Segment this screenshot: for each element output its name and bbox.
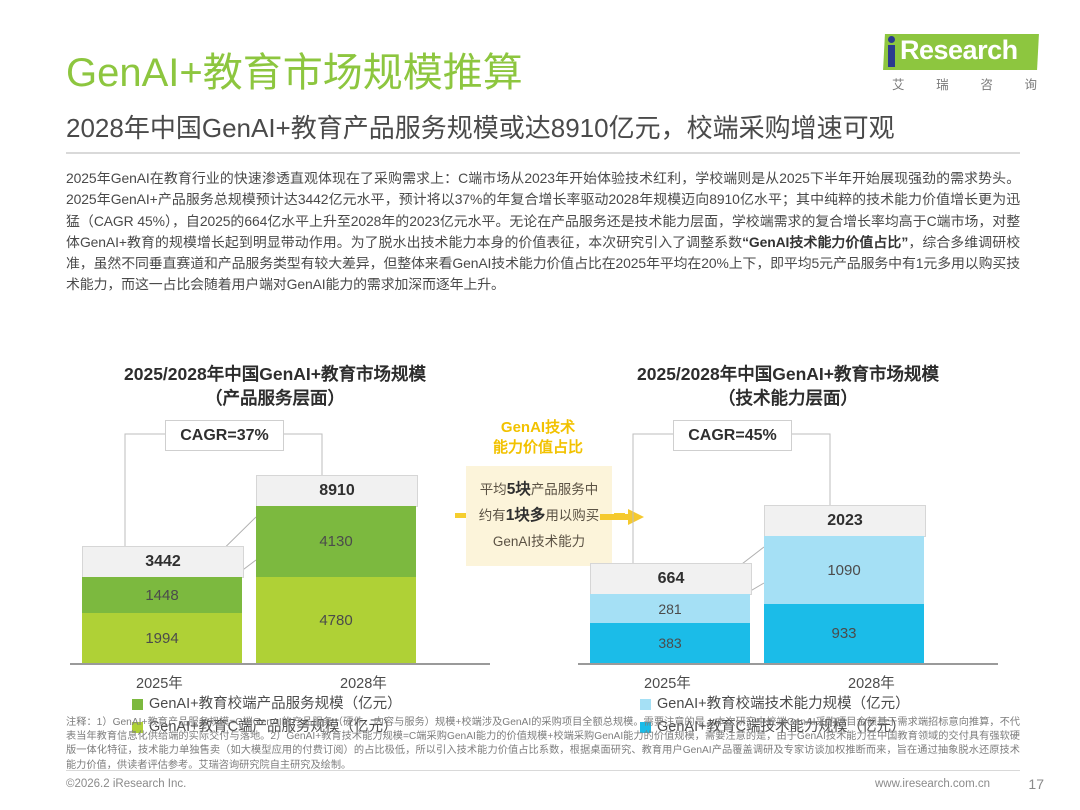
footer-copyright: ©2026.2 iResearch Inc.: [66, 778, 186, 790]
logo-chinese-name: 艾 瑞 咨 询: [892, 74, 1038, 93]
logo-cn-char-4: 询: [1024, 74, 1038, 93]
logo-badge: Research: [862, 32, 1038, 72]
callout-tick-left: [455, 513, 466, 518]
left-bar-2025-school: 1448: [82, 577, 242, 613]
right-chart-title-line2: （技术能力层面）: [578, 386, 998, 410]
page-subtitle: 2028年中国GenAI+教育产品服务规模或达8910亿元，校端采购增速可观: [66, 108, 895, 145]
left-bar-2025-consumer: 1994: [82, 613, 242, 663]
right-total-2025: 664: [590, 563, 752, 595]
left-cagr-annotation: CAGR=37%: [165, 420, 284, 451]
logo-i-dot-icon: [888, 36, 895, 43]
left-total-2028: 8910: [256, 475, 418, 507]
right-bar-2025-school: 281: [590, 594, 750, 623]
page-title: GenAI+教育市场规模推算: [66, 40, 523, 98]
iresearch-logo: Research 艾 瑞 咨 询: [862, 32, 1038, 94]
right-chart-axis: [578, 663, 998, 665]
callout-line2-pre: 约有: [479, 508, 506, 523]
body-paragraph: 2025年GenAI在教育行业的快速渗透直观体现在了采购需求上：C端市场从202…: [66, 168, 1020, 296]
right-legend-item-school: GenAI+教育校端技术能力规模（亿元）: [640, 694, 910, 715]
right-chart-title-line1: 2025/2028年中国GenAI+教育市场规模: [578, 362, 998, 386]
left-xlabel-2025: 2025年: [136, 672, 183, 693]
footnote: 注释：1）GenAI+教育产品服务规模=C端GenAI的产品服务（硬件、内容与服…: [66, 716, 1020, 773]
callout-line1-pre: 平均: [480, 482, 507, 497]
right-total-2028: 2023: [764, 505, 926, 537]
right-chart-title: 2025/2028年中国GenAI+教育市场规模 （技术能力层面）: [578, 362, 998, 410]
right-xlabel-2025: 2025年: [644, 672, 691, 693]
logo-cn-char-3: 咨: [980, 74, 994, 93]
right-legend-label-school: GenAI+教育校端技术能力规模（亿元）: [657, 694, 910, 715]
left-bar-2025: 1448 1994: [82, 577, 242, 663]
right-legend-swatch-school: [640, 699, 651, 710]
right-chart: CAGR=45% 664 2023 281 383 1090 933: [578, 420, 998, 665]
left-bar-2028-school: 4130: [256, 506, 416, 577]
left-chart-axis: [70, 663, 490, 665]
footer-website: www.iresearch.com.cn: [875, 778, 990, 790]
callout-line3: GenAI技术能力: [493, 529, 585, 555]
left-bar-2028-consumer: 4780: [256, 577, 416, 663]
body-paragraph-bold: “GenAI技术能力价值占比”: [742, 234, 908, 250]
callout-line1-bold: 5块: [507, 481, 531, 498]
right-bar-2028: 1090 933: [764, 536, 924, 663]
logo-i-stem-icon: [888, 45, 895, 67]
right-xlabel-2028: 2028年: [848, 672, 895, 693]
left-bar-2028: 4130 4780: [256, 506, 416, 663]
left-xlabel-2028: 2028年: [340, 672, 387, 693]
left-chart-title-line2: （产品服务层面）: [70, 386, 480, 410]
footer-divider: [66, 770, 1020, 771]
logo-cn-char-1: 艾: [892, 74, 906, 93]
left-legend-swatch-school: [132, 699, 143, 710]
left-total-2025: 3442: [82, 546, 244, 578]
right-cagr-annotation: CAGR=45%: [673, 420, 792, 451]
slide-page: Research 艾 瑞 咨 询 GenAI+教育市场规模推算 2028年中国G…: [0, 0, 1080, 810]
callout-line2-bold: 1块多: [506, 507, 546, 524]
right-bar-2028-consumer: 933: [764, 604, 924, 663]
header-divider: [66, 152, 1020, 154]
right-bar-2028-school: 1090: [764, 536, 924, 604]
logo-wordmark: Research: [900, 35, 1018, 66]
right-bar-2025-consumer: 383: [590, 623, 750, 663]
left-legend-label-school: GenAI+教育校端产品服务规模（亿元）: [149, 694, 402, 715]
left-legend-item-school: GenAI+教育校端产品服务规模（亿元）: [132, 694, 402, 715]
logo-cn-char-2: 瑞: [936, 74, 950, 93]
left-chart-title: 2025/2028年中国GenAI+教育市场规模 （产品服务层面）: [70, 362, 480, 410]
left-chart-title-line1: 2025/2028年中国GenAI+教育市场规模: [70, 362, 480, 386]
left-chart: CAGR=37% 3442 8910 1448 1994 4130 4780: [70, 420, 490, 665]
page-number: 17: [1028, 776, 1044, 792]
right-bar-2025: 281 383: [590, 594, 750, 663]
